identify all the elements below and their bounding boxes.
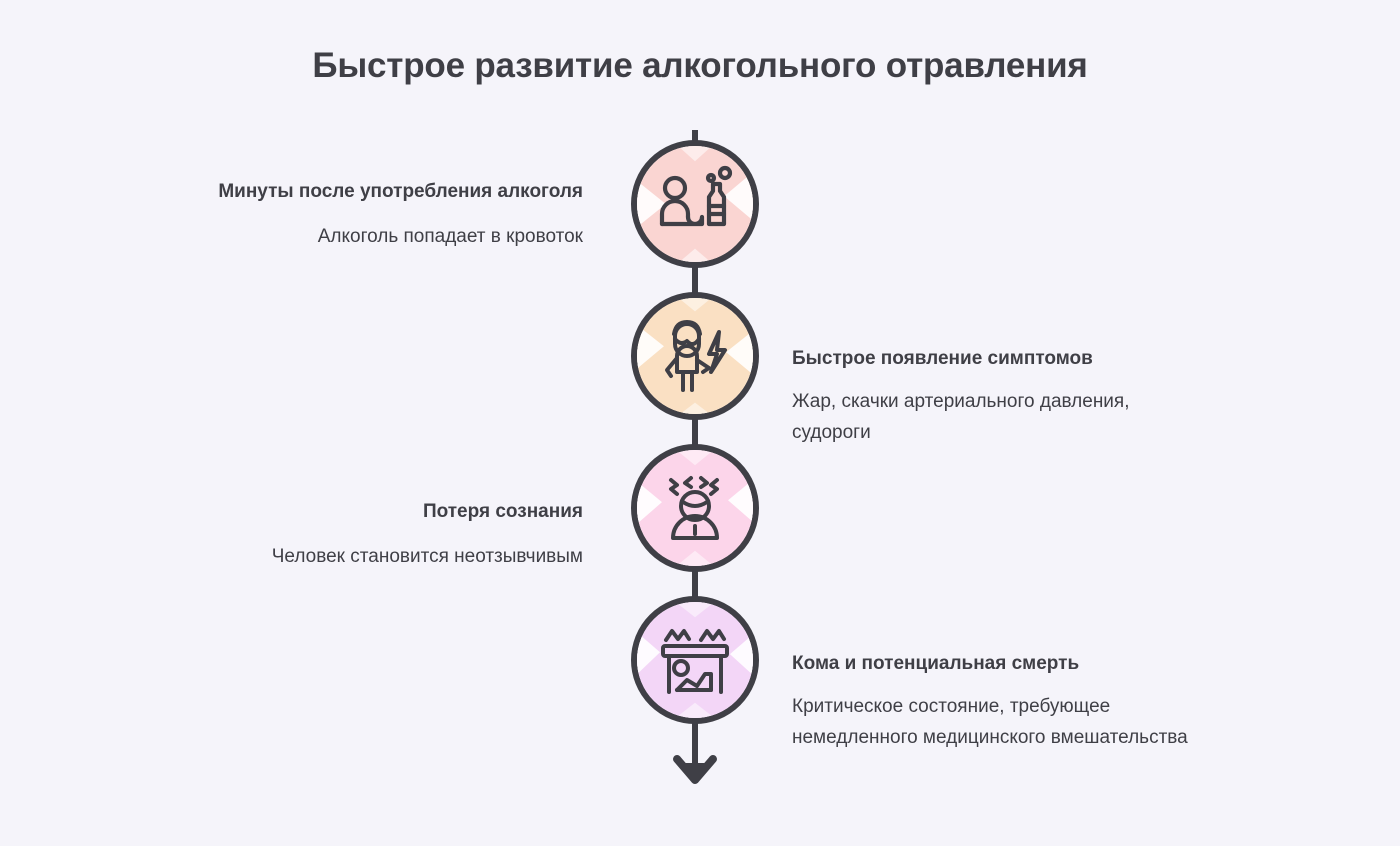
timeline-node-step-1[interactable] — [631, 140, 759, 268]
step-text-block-2: Быстрое появление симптомов Жар, скачки … — [792, 345, 1212, 448]
person-with-bottle-icon — [653, 162, 737, 246]
down-arrow-icon — [677, 722, 713, 780]
timeline-node-step-2[interactable] — [631, 292, 759, 420]
timeline-node-step-3[interactable] — [631, 444, 759, 572]
step-description-2: Жар, скачки артериального давления, судо… — [792, 386, 1212, 448]
step-title-1: Минуты после употребления алкоголя — [163, 178, 583, 205]
person-with-lightning-icon — [653, 314, 737, 398]
step-description-1: Алкоголь попадает в кровоток — [163, 221, 583, 252]
dizzy-person-icon — [653, 466, 737, 550]
step-text-block-3: Потеря сознания Человек становится неотз… — [163, 498, 583, 572]
step-description-4: Критическое состояние, требующее немедле… — [792, 691, 1212, 753]
step-title-3: Потеря сознания — [163, 498, 583, 525]
step-text-block-1: Минуты после употребления алкоголя Алког… — [163, 178, 583, 252]
step-title-2: Быстрое появление симптомов — [792, 345, 1212, 372]
step-title-4: Кома и потенциальная смерть — [792, 650, 1212, 677]
page-title: Быстрое развитие алкогольного отравления — [0, 46, 1400, 86]
step-description-3: Человек становится неотзывчивым — [163, 541, 583, 572]
process-timeline: Минуты после употребления алкоголя Алког… — [0, 130, 1400, 810]
person-under-table-icon — [653, 618, 737, 702]
step-text-block-4: Кома и потенциальная смерть Критическое … — [792, 650, 1212, 753]
timeline-node-step-4[interactable] — [631, 596, 759, 724]
